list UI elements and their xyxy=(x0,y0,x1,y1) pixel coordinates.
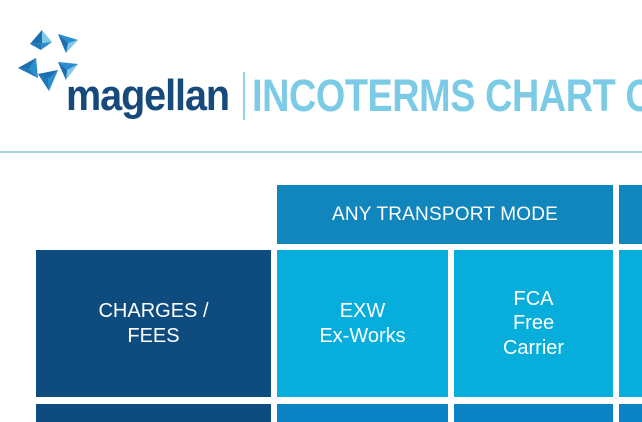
brand-divider xyxy=(243,72,245,120)
group-header-sea-inland-waterway-partial xyxy=(619,185,642,244)
term-cell-fca-row2-partial xyxy=(454,404,613,422)
term-cell-exw-row2-partial xyxy=(277,404,448,422)
term-name-fca-line-1: Free xyxy=(513,311,554,335)
term-cell-fca: FCA Free Carrier xyxy=(454,250,613,397)
masthead: magellan INCOTERMS CHART OF xyxy=(0,0,642,153)
row-label-charges-fees: CHARGES / FEES xyxy=(36,250,271,397)
group-header-any-transport-mode: ANY TRANSPORT MODE xyxy=(277,185,613,244)
group-header-label: ANY TRANSPORT MODE xyxy=(332,203,558,226)
term-name-exw: Ex-Works xyxy=(319,324,405,348)
term-cell-next-row2-partial xyxy=(619,404,642,422)
term-code-exw: EXW xyxy=(340,299,386,323)
brand-wordmark: magellan xyxy=(66,74,229,118)
page-title: INCOTERMS CHART OF xyxy=(252,73,642,119)
term-cell-exw: EXW Ex-Works xyxy=(277,250,448,397)
term-name-fca-line-2: Carrier xyxy=(503,336,564,360)
masthead-divider-rule xyxy=(0,151,642,153)
row-label-next-partial xyxy=(36,404,271,422)
incoterms-chart-page: magellan INCOTERMS CHART OF ANY TRANSPOR… xyxy=(0,0,642,422)
incoterms-table: ANY TRANSPORT MODE CHARGES / FEES EXW Ex… xyxy=(0,160,642,422)
term-code-fca: FCA xyxy=(514,287,554,311)
row-label-line-1: CHARGES / xyxy=(98,299,208,323)
row-label-line-2: FEES xyxy=(127,324,179,348)
term-cell-next-partial xyxy=(619,250,642,397)
